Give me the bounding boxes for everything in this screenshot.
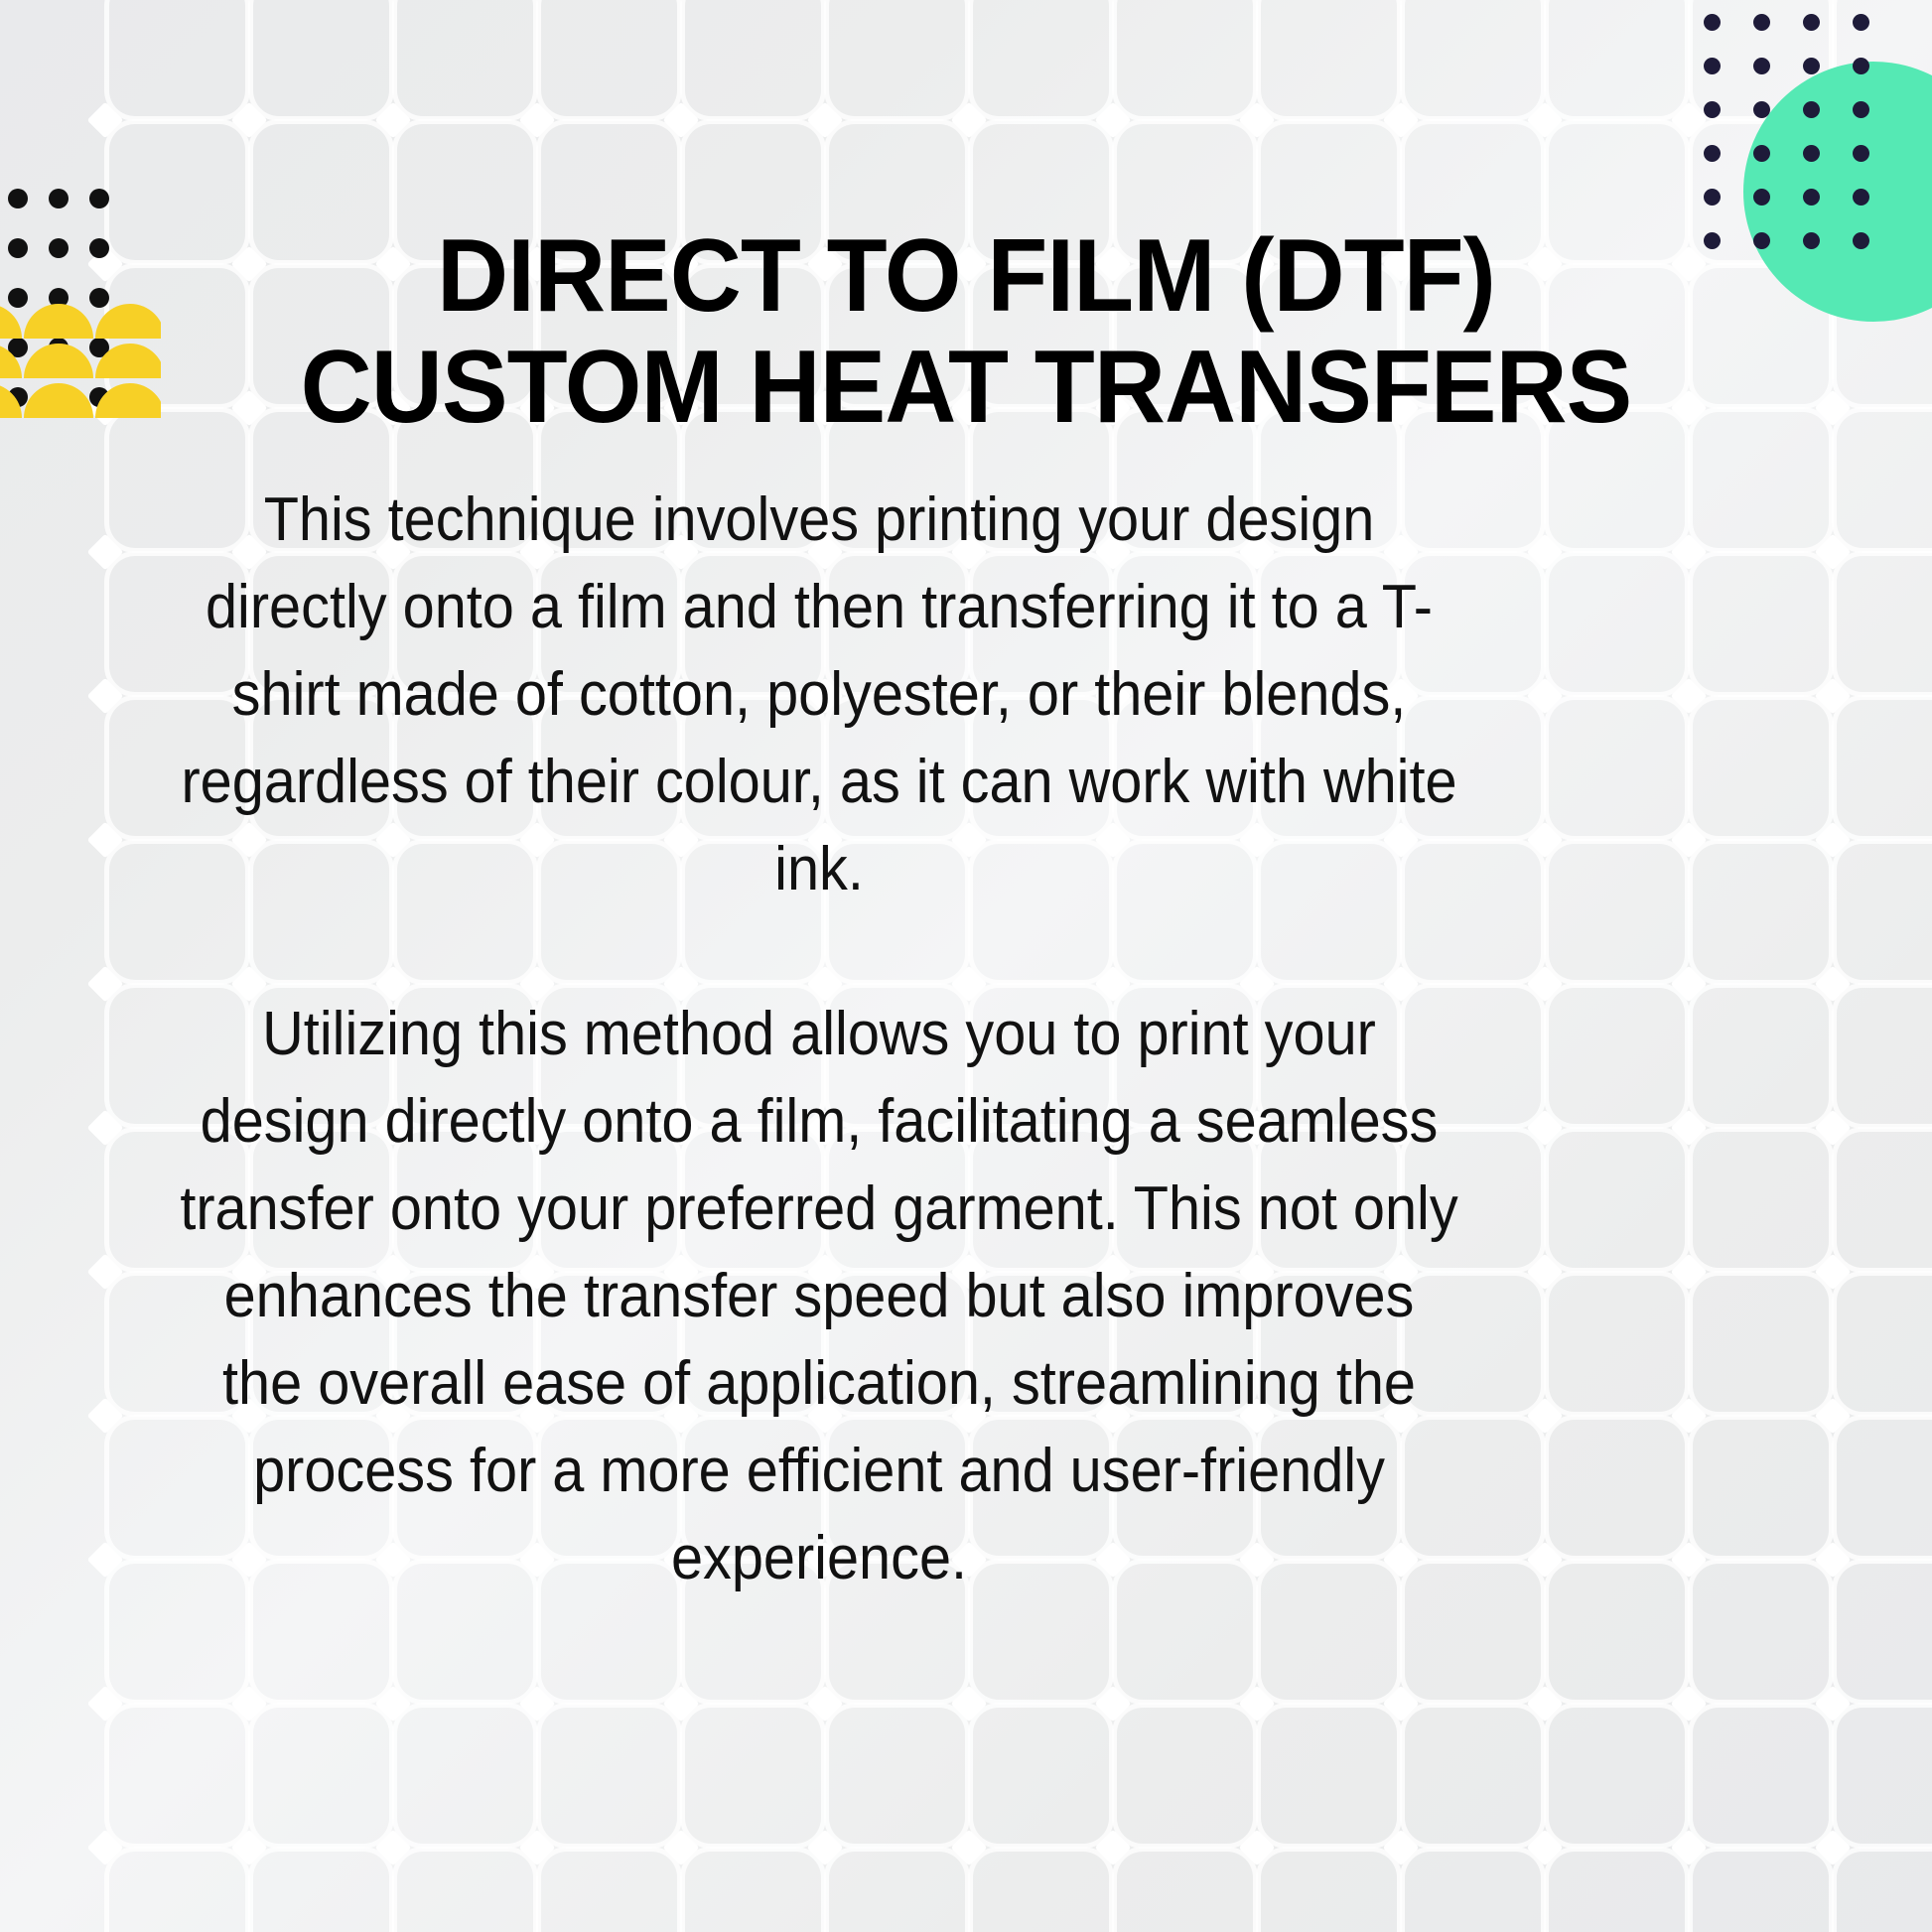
- body-copy: This technique involves printing your de…: [178, 477, 1461, 1602]
- title-line-1: DIRECT TO FILM (DTF): [437, 218, 1495, 334]
- poster-canvas: DIRECT TO FILM (DTF) CUSTOM HEAT TRANSFE…: [0, 0, 1932, 1932]
- paragraph-1: This technique involves printing your de…: [178, 477, 1461, 913]
- page-title: DIRECT TO FILM (DTF) CUSTOM HEAT TRANSFE…: [204, 220, 1728, 444]
- poster-content: DIRECT TO FILM (DTF) CUSTOM HEAT TRANSFE…: [0, 0, 1932, 1932]
- paragraph-2: Utilizing this method allows you to prin…: [178, 991, 1461, 1602]
- title-line-2: CUSTOM HEAT TRANSFERS: [301, 330, 1632, 445]
